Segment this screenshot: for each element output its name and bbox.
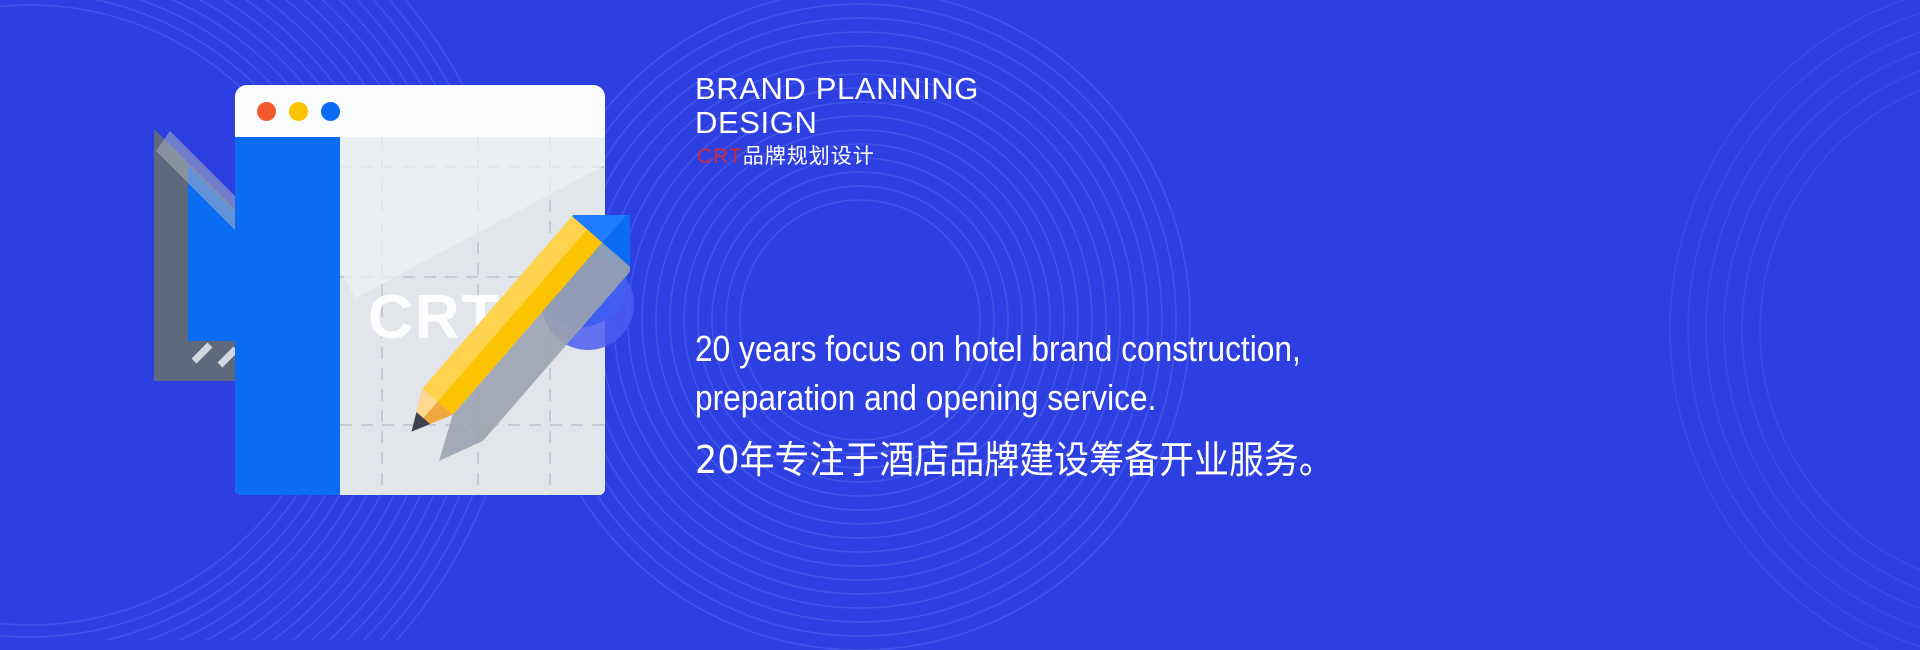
- brand-banner: CRT': [0, 0, 1920, 650]
- heading-kicker: BRAND PLANNING DESIGN: [695, 72, 1335, 140]
- body-en-line-1: 20 years focus on hotel brand constructi…: [695, 325, 1311, 374]
- red-dot-icon: [257, 102, 276, 121]
- subtitle-chinese: 品牌规划设计: [743, 145, 875, 168]
- heading-line-1: BRAND PLANNING: [695, 71, 979, 106]
- body-cn-line: 20年专注于酒店品牌建设筹备开业服务。: [695, 436, 1339, 485]
- heading-line-2: DESIGN: [695, 106, 1335, 140]
- subtitle: CRT品牌规划设计: [697, 140, 875, 170]
- subtitle-brand: CRT: [697, 145, 743, 168]
- browser-titlebar: [235, 85, 605, 137]
- blue-accent-panel: [235, 137, 340, 495]
- body-en-line-2: preparation and opening service.: [695, 374, 1311, 423]
- illustration-group: CRT': [150, 40, 710, 620]
- yellow-dot-icon: [289, 102, 308, 121]
- body-text-block: 20 years focus on hotel brand constructi…: [695, 325, 1395, 486]
- blue-dot-icon: [321, 102, 340, 121]
- pencil-icon: [380, 215, 630, 490]
- text-column: BRAND PLANNING DESIGN CRT品牌规划设计 20 years…: [695, 0, 1845, 650]
